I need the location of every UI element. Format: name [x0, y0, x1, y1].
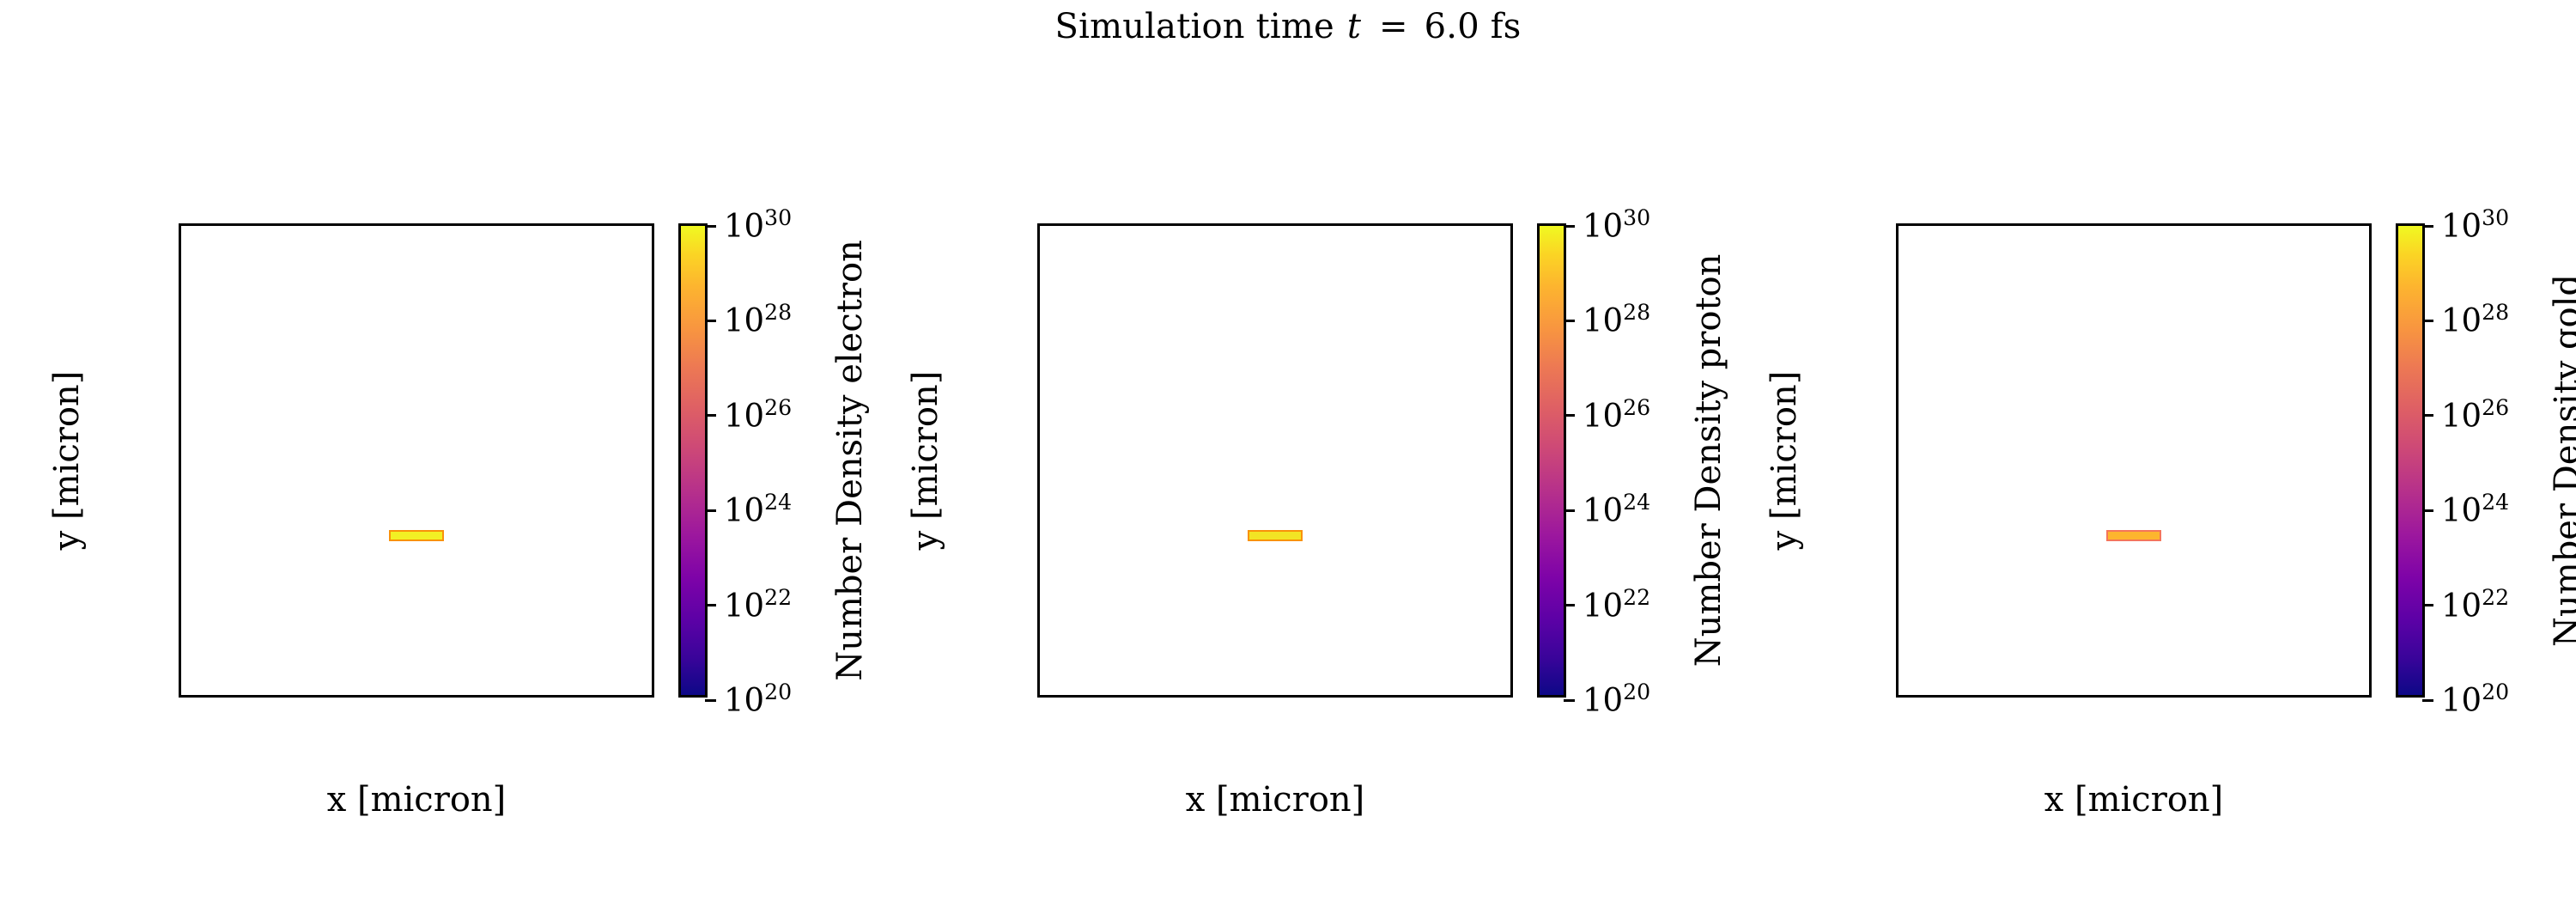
- x-tick-major: [1118, 695, 1121, 698]
- plot-panel-gold: −6−4−2024681012−8−6−4−202468x [micron]y …: [1717, 0, 2576, 902]
- y-tick-major: [1037, 225, 1040, 228]
- colorbar-tick-mantissa: 10: [1583, 587, 1623, 624]
- y-tick-minor: [179, 620, 181, 623]
- y-tick-minor: [1896, 567, 1899, 570]
- colorbar-label: Number Density gold: [2542, 223, 2576, 698]
- y-axis-label: y [micron]: [1759, 223, 1810, 698]
- y-tick-major: [1896, 383, 1899, 386]
- y-tick-major: [179, 330, 181, 332]
- y-tick-minor: [1037, 567, 1040, 570]
- colorbar-tick-exponent: 20: [764, 680, 792, 704]
- axes-area-proton: −6−4−2024681012−8−6−4−202468: [1037, 223, 1513, 698]
- colorbar-tick-mantissa: 10: [1583, 682, 1623, 719]
- colorbar-tick-exponent: 24: [2482, 490, 2509, 515]
- colorbar-tick-label: 1028: [2441, 305, 2509, 337]
- x-tick-major: [2293, 695, 2296, 698]
- x-tick-minor: [550, 695, 552, 698]
- x-tick-minor: [2267, 695, 2269, 698]
- y-tick-major: [1037, 383, 1040, 386]
- y-tick-minor: [1896, 462, 1899, 465]
- plot-panel-electron: −6−4−2024681012−8−6−4−202468x [micron]y …: [0, 0, 859, 902]
- colorbar-tick-label: 1026: [724, 399, 792, 431]
- colorbar-tick: [705, 509, 716, 512]
- x-tick-minor: [1950, 695, 1953, 698]
- x-tick-major: [206, 695, 209, 698]
- y-tick-minor: [179, 304, 181, 307]
- colorbar-tick-label: 1028: [1583, 305, 1650, 337]
- y-tick-minor: [1896, 515, 1899, 517]
- x-tick-major: [1224, 695, 1226, 698]
- y-tick-major: [1896, 488, 1899, 491]
- colorbar-tick: [2422, 225, 2433, 228]
- x-tick-major: [471, 695, 473, 698]
- colorbar-tick-mantissa: 10: [724, 302, 764, 339]
- x-tick-minor: [1303, 695, 1305, 698]
- density-patch-proton: [1248, 530, 1303, 540]
- x-tick-minor: [1461, 695, 1464, 698]
- colorbar-tick-mantissa: 10: [2441, 492, 2482, 529]
- y-tick-major: [179, 383, 181, 386]
- x-tick-major: [576, 695, 579, 698]
- colorbar-tick: [705, 414, 716, 417]
- x-tick-major: [2136, 695, 2138, 698]
- y-tick-major: [1896, 646, 1899, 649]
- x-tick-major: [1382, 695, 1385, 698]
- colorbar-tick-mantissa: 10: [2441, 397, 2482, 434]
- x-tick-minor: [497, 695, 500, 698]
- colorbar-tick-exponent: 24: [1623, 490, 1650, 515]
- y-tick-minor: [179, 409, 181, 411]
- x-tick-major: [1488, 695, 1491, 698]
- x-tick-major: [2082, 695, 2085, 698]
- x-tick-minor: [286, 695, 289, 698]
- colorbar-tick-exponent: 30: [2482, 205, 2509, 230]
- y-tick-major: [1896, 277, 1899, 280]
- colorbar-tick: [1564, 699, 1575, 702]
- x-tick-minor: [2320, 695, 2323, 698]
- y-tick-major: [1896, 541, 1899, 544]
- y-tick-major: [179, 541, 181, 544]
- colorbar-tick-mantissa: 10: [2441, 302, 2482, 339]
- y-tick-minor: [1896, 620, 1899, 623]
- colorbar-tick-exponent: 26: [1623, 395, 1650, 420]
- y-tick-major: [179, 436, 181, 438]
- colorbar-tick-exponent: 28: [764, 301, 792, 326]
- x-tick-minor: [1091, 695, 1094, 698]
- x-tick-major: [1923, 695, 1926, 698]
- x-tick-major: [2347, 695, 2349, 698]
- y-tick-major: [179, 225, 181, 228]
- colorbar-tick-mantissa: 10: [724, 587, 764, 624]
- density-patch-gold: [2106, 530, 2162, 540]
- colorbar-tick: [705, 699, 716, 702]
- colorbar-tick-mantissa: 10: [2441, 587, 2482, 624]
- axes-area-electron: −6−4−2024681012−8−6−4−202468: [179, 223, 654, 698]
- y-axis-label: y [micron]: [900, 223, 951, 698]
- colorbar-tick-label: 1026: [1583, 399, 1650, 431]
- colorbar-gold: 103010281026102410221020: [2396, 223, 2425, 698]
- colorbar-tick-mantissa: 10: [2441, 682, 2482, 719]
- x-tick-major: [312, 695, 314, 698]
- y-tick-major: [1037, 646, 1040, 649]
- y-tick-major: [1037, 541, 1040, 544]
- colorbar-tick-label: 1024: [1583, 495, 1650, 527]
- colorbar-tick-label: 1028: [724, 305, 792, 337]
- colorbar-tick: [1564, 225, 1575, 228]
- x-tick-major: [1277, 695, 1279, 698]
- colorbar-tick-mantissa: 10: [1583, 302, 1623, 339]
- colorbar-tick: [705, 225, 716, 228]
- y-tick-minor: [179, 357, 181, 359]
- x-tick-major: [418, 695, 421, 698]
- colorbar-tick: [2422, 604, 2433, 606]
- y-tick-major: [179, 646, 181, 649]
- x-tick-minor: [603, 695, 605, 698]
- y-tick-minor: [1037, 462, 1040, 465]
- colorbar-tick-label: 1026: [2441, 399, 2509, 431]
- axes-area-gold: −6−4−2024681012−8−6−4−202468: [1896, 223, 2372, 698]
- colorbar-tick: [705, 320, 716, 322]
- plot-panel-proton: −6−4−2024681012−8−6−4−202468x [micron]y …: [859, 0, 1717, 902]
- x-tick-minor: [1145, 695, 1147, 698]
- colorbar-tick-exponent: 30: [764, 205, 792, 230]
- colorbar-tick-mantissa: 10: [724, 492, 764, 529]
- colorbar-tick-exponent: 20: [2482, 680, 2509, 704]
- colorbar-tick-exponent: 22: [2482, 585, 2509, 610]
- x-tick-minor: [2109, 695, 2111, 698]
- x-tick-major: [629, 695, 632, 698]
- colorbar-tick-label: 1030: [1583, 210, 1650, 242]
- colorbar-tick: [1564, 320, 1575, 322]
- colorbar-tick-mantissa: 10: [1583, 397, 1623, 434]
- colorbar-tick-exponent: 28: [1623, 301, 1650, 326]
- colorbar-electron: 103010281026102410221020: [678, 223, 708, 698]
- colorbar-tick-label: 1020: [2441, 685, 2509, 716]
- colorbar-tick: [2422, 320, 2433, 322]
- colorbar-tick-mantissa: 10: [1583, 208, 1623, 245]
- y-tick-minor: [1896, 251, 1899, 253]
- y-tick-minor: [1037, 620, 1040, 623]
- colorbar-tick: [1564, 604, 1575, 606]
- y-tick-major: [1037, 436, 1040, 438]
- y-tick-minor: [179, 251, 181, 253]
- colorbar-tick: [1564, 414, 1575, 417]
- colorbar-tick-label: 1030: [724, 210, 792, 242]
- x-tick-major: [524, 695, 526, 698]
- colorbar-tick-label: 1022: [1583, 589, 1650, 621]
- y-tick-major: [179, 594, 181, 596]
- y-tick-minor: [179, 673, 181, 675]
- x-tick-major: [259, 695, 262, 698]
- colorbar-tick-mantissa: 10: [724, 208, 764, 245]
- colorbar-tick-mantissa: 10: [724, 397, 764, 434]
- colorbar-tick-exponent: 20: [1623, 680, 1650, 704]
- x-tick-minor: [444, 695, 447, 698]
- colorbar-tick-mantissa: 10: [1583, 492, 1623, 529]
- colorbar-tick-exponent: 26: [2482, 395, 2509, 420]
- colorbar-tick-label: 1030: [2441, 210, 2509, 242]
- x-tick-major: [1065, 695, 1067, 698]
- y-tick-minor: [1037, 515, 1040, 517]
- colorbar-tick-label: 1022: [724, 589, 792, 621]
- x-axis-label: x [micron]: [1896, 780, 2372, 820]
- colorbar-tick-label: 1022: [2441, 589, 2509, 621]
- x-tick-minor: [392, 695, 394, 698]
- y-tick-major: [1896, 594, 1899, 596]
- x-tick-minor: [338, 695, 341, 698]
- colorbar-tick-exponent: 28: [2482, 301, 2509, 326]
- colorbar-tick: [1564, 509, 1575, 512]
- x-tick-major: [2188, 695, 2190, 698]
- y-tick-major: [1037, 488, 1040, 491]
- colorbar-tick: [2422, 699, 2433, 702]
- colorbar-tick-label: 1020: [724, 685, 792, 716]
- y-tick-minor: [1896, 409, 1899, 411]
- x-tick-major: [1435, 695, 1437, 698]
- x-axis-label: x [micron]: [179, 780, 654, 820]
- x-tick-major: [1977, 695, 1979, 698]
- x-tick-minor: [2003, 695, 2006, 698]
- x-tick-minor: [1197, 695, 1200, 698]
- colorbar-tick-exponent: 22: [764, 585, 792, 610]
- y-tick-minor: [1896, 304, 1899, 307]
- colorbar-tick-exponent: 26: [764, 395, 792, 420]
- x-tick-minor: [1250, 695, 1253, 698]
- colorbar-proton: 103010281026102410221020: [1537, 223, 1566, 698]
- x-tick-minor: [1356, 695, 1358, 698]
- colorbar-tick-label: 1024: [724, 495, 792, 527]
- y-tick-minor: [179, 462, 181, 465]
- colorbar-label-wrapper: Number Density gold: [2542, 223, 2576, 698]
- x-tick-minor: [2056, 695, 2058, 698]
- colorbar-tick: [2422, 414, 2433, 417]
- x-tick-major: [365, 695, 368, 698]
- y-tick-major: [1896, 436, 1899, 438]
- colorbar-tick: [705, 604, 716, 606]
- y-tick-major: [1896, 330, 1899, 332]
- colorbar-tick-label: 1020: [1583, 685, 1650, 716]
- y-tick-minor: [1037, 304, 1040, 307]
- y-tick-major: [179, 277, 181, 280]
- x-tick-minor: [1898, 695, 1900, 698]
- y-tick-minor: [1896, 357, 1899, 359]
- colorbar-tick-mantissa: 10: [2441, 208, 2482, 245]
- y-tick-minor: [179, 567, 181, 570]
- x-axis-label: x [micron]: [1037, 780, 1513, 820]
- x-tick-minor: [180, 695, 183, 698]
- colorbar-tick-exponent: 24: [764, 490, 792, 515]
- y-tick-major: [1037, 594, 1040, 596]
- y-tick-major: [1037, 277, 1040, 280]
- y-tick-major: [1037, 330, 1040, 332]
- x-tick-minor: [1408, 695, 1411, 698]
- x-tick-major: [1170, 695, 1173, 698]
- y-axis-label: y [micron]: [41, 223, 93, 698]
- x-tick-minor: [1039, 695, 1042, 698]
- density-patch-electron: [389, 530, 445, 540]
- y-tick-minor: [1037, 251, 1040, 253]
- y-tick-minor: [179, 515, 181, 517]
- x-tick-major: [2241, 695, 2244, 698]
- colorbar-tick-exponent: 22: [1623, 585, 1650, 610]
- colorbar-tick-label: 1024: [2441, 495, 2509, 527]
- x-tick-minor: [2215, 695, 2217, 698]
- y-tick-minor: [1037, 409, 1040, 411]
- y-tick-minor: [1037, 673, 1040, 675]
- y-tick-minor: [1896, 673, 1899, 675]
- x-tick-major: [1329, 695, 1332, 698]
- x-tick-minor: [233, 695, 235, 698]
- x-tick-minor: [2161, 695, 2164, 698]
- y-tick-major: [179, 488, 181, 491]
- colorbar-tick: [2422, 509, 2433, 512]
- y-tick-major: [1896, 225, 1899, 228]
- x-tick-major: [2029, 695, 2032, 698]
- colorbar-tick-mantissa: 10: [724, 682, 764, 719]
- colorbar-tick-exponent: 30: [1623, 205, 1650, 230]
- y-tick-minor: [1037, 357, 1040, 359]
